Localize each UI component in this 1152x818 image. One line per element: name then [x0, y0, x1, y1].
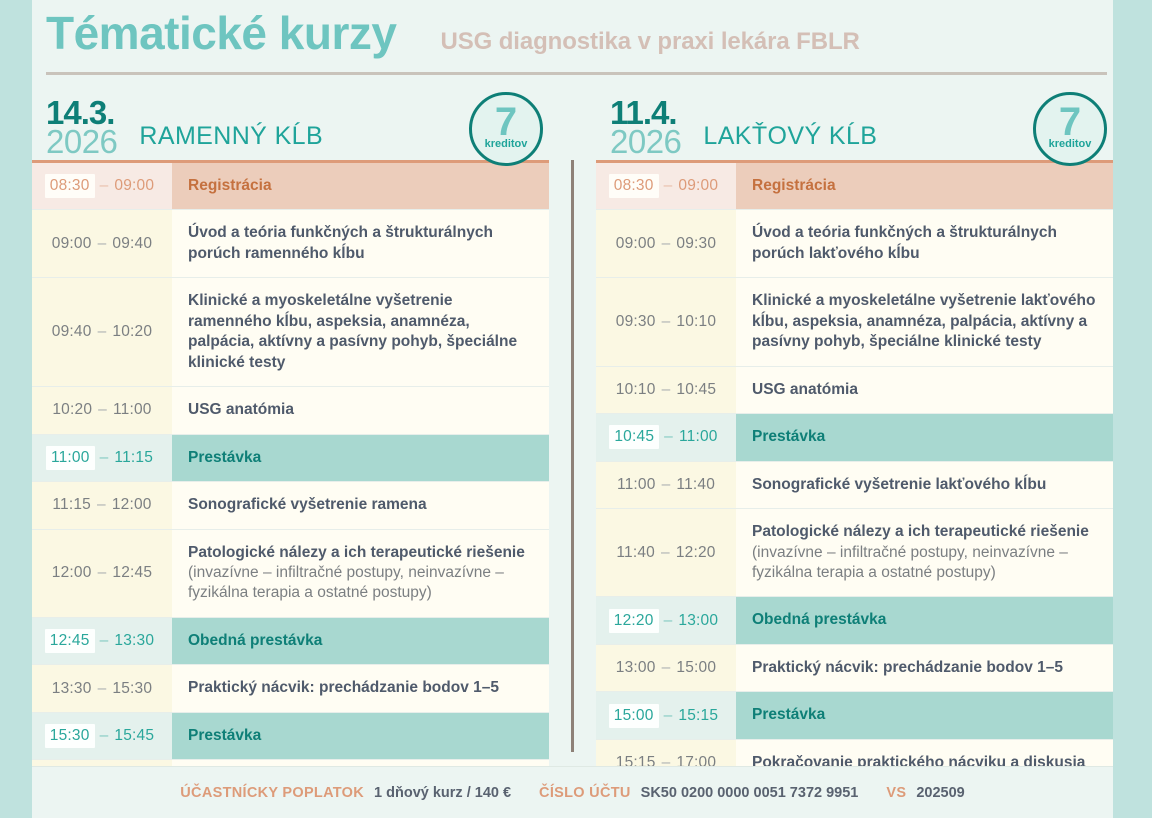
schedule-row: 15:00–15:15Prestávka — [596, 692, 1113, 739]
course-header-0: 14.3. 2026 RAMENNÝ KĹB 7 kreditov — [32, 86, 549, 160]
row-title: Prestávka — [188, 448, 535, 468]
row-time-dash: – — [661, 544, 670, 562]
schedule-row-body: Úvod a teória funkčných a štrukturálnych… — [172, 210, 549, 277]
row-end-time: 12:20 — [676, 544, 716, 562]
row-title: Patologické nálezy a ich terapeutické ri… — [188, 543, 535, 563]
schedule-row-time: 09:00–09:30 — [596, 210, 736, 277]
poster-canvas: Tématické kurzy USG diagnostika v praxi … — [32, 0, 1113, 818]
row-start-time: 08:30 — [45, 174, 95, 198]
fee-value: 1 dňový kurz / 140 € — [374, 785, 511, 801]
row-title: Klinické a myoskeletálne vyšetrenie rame… — [188, 291, 535, 373]
row-time-dash: – — [100, 177, 109, 195]
schedule-row-time: 09:00–09:40 — [32, 210, 172, 277]
schedule-row-body: Patologické nálezy a ich terapeutické ri… — [172, 530, 549, 617]
row-title: Prestávka — [752, 705, 1099, 725]
row-time-dash: – — [662, 381, 671, 399]
schedule-row-body: Praktický nácvik: prechádzanie bodov 1–5 — [736, 645, 1113, 691]
schedule-row-body: Klinické a myoskeletálne vyšetrenie rame… — [172, 278, 549, 386]
row-time-dash: – — [100, 449, 109, 467]
row-start-time: 09:00 — [616, 235, 656, 253]
row-time-dash: – — [98, 235, 107, 253]
schedule-table-0: 08:30–09:00Registrácia09:00–09:40Úvod a … — [32, 160, 549, 807]
schedule-row-time: 15:00–15:15 — [596, 692, 736, 738]
row-title: Registrácia — [188, 176, 535, 196]
schedule-row: 11:15–12:00Sonografické vyšetrenie ramen… — [32, 482, 549, 529]
row-end-time: 09:40 — [112, 235, 152, 253]
course-column-0: 14.3. 2026 RAMENNÝ KĹB 7 kreditov 08:30–… — [32, 86, 549, 766]
schedule-row: 15:30–15:45Prestávka — [32, 713, 549, 760]
row-title: Obedná prestávka — [752, 610, 1099, 630]
row-end-time: 12:00 — [112, 496, 152, 514]
schedule-row-time: 13:30–15:30 — [32, 665, 172, 711]
schedule-row-time: 11:15–12:00 — [32, 482, 172, 528]
row-start-time: 10:10 — [616, 381, 656, 399]
schedule-row-time: 15:30–15:45 — [32, 713, 172, 759]
row-end-time: 13:30 — [114, 632, 154, 650]
schedule-row-time: 11:40–12:20 — [596, 509, 736, 596]
schedule-row: 11:40–12:20Patologické nálezy a ich tera… — [596, 509, 1113, 597]
row-title: Registrácia — [752, 176, 1099, 196]
row-start-time: 15:00 — [609, 704, 659, 728]
schedule-row-time: 08:30–09:00 — [596, 163, 736, 209]
schedule-row-time: 12:20–13:00 — [596, 597, 736, 643]
page-title: Tématické kurzy — [46, 10, 396, 56]
row-start-time: 12:20 — [609, 609, 659, 633]
credits-label: kreditov — [485, 139, 528, 150]
schedule-row: 13:00–15:00Praktický nácvik: prechádzani… — [596, 645, 1113, 692]
schedule-row-body: Prestávka — [172, 713, 549, 759]
row-end-time: 11:00 — [113, 401, 152, 419]
row-time-dash: – — [662, 476, 671, 494]
row-title: Sonografické vyšetrenie ramena — [188, 495, 535, 515]
schedule-row-body: Sonografické vyšetrenie ramena — [172, 482, 549, 528]
course-date-year: 2026 — [610, 128, 681, 156]
row-start-time: 08:30 — [609, 174, 659, 198]
row-time-dash: – — [98, 680, 107, 698]
row-start-time: 10:20 — [52, 401, 92, 419]
poster-page: Tématické kurzy USG diagnostika v praxi … — [0, 0, 1152, 818]
schedule-row-body: Praktický nácvik: prechádzanie bodov 1–5 — [172, 665, 549, 711]
row-end-time: 15:45 — [114, 727, 154, 745]
poster-footer: ÚČASTNÍCKY POPLATOK 1 dňový kurz / 140 €… — [32, 766, 1113, 818]
schedule-row: 10:45–11:00Prestávka — [596, 414, 1113, 461]
row-title: Úvod a teória funkčných a štrukturálnych… — [752, 223, 1099, 264]
schedule-row-body: Sonografické vyšetrenie lakťového kĺbu — [736, 462, 1113, 508]
row-title: Klinické a myoskeletálne vyšetrenie lakť… — [752, 291, 1099, 352]
row-title: Praktický nácvik: prechádzanie bodov 1–5 — [188, 678, 535, 698]
schedule-row-time: 08:30–09:00 — [32, 163, 172, 209]
schedule-row: 08:30–09:00Registrácia — [596, 163, 1113, 210]
row-end-time: 10:10 — [676, 313, 716, 331]
row-start-time: 13:00 — [616, 659, 656, 677]
credits-badge: 7 kreditov — [1033, 92, 1107, 166]
credits-badge: 7 kreditov — [469, 92, 543, 166]
row-end-time: 09:00 — [114, 177, 154, 195]
vs-value: 202509 — [916, 785, 964, 801]
schedule-row-time: 10:10–10:45 — [596, 367, 736, 413]
schedule-row-body: Obedná prestávka — [736, 597, 1113, 643]
row-time-dash: – — [97, 496, 106, 514]
schedule-row: 12:20–13:00Obedná prestávka — [596, 597, 1113, 644]
course-date-year: 2026 — [46, 128, 117, 156]
row-end-time: 09:30 — [676, 235, 716, 253]
row-note: (invazívne – infiltračné postupy, neinva… — [752, 543, 1099, 584]
row-time-dash: – — [664, 177, 673, 195]
row-time-dash: – — [100, 727, 109, 745]
schedule-row: 11:00–11:40Sonografické vyšetrenie lakťo… — [596, 462, 1113, 509]
column-divider — [571, 160, 574, 752]
schedule-row-time: 10:20–11:00 — [32, 387, 172, 433]
schedule-row: 13:30–15:30Praktický nácvik: prechádzani… — [32, 665, 549, 712]
row-start-time: 09:00 — [52, 235, 92, 253]
schedule-row-time: 09:40–10:20 — [32, 278, 172, 386]
schedule-row: 10:20–11:00USG anatómia — [32, 387, 549, 434]
schedule-row-time: 12:00–12:45 — [32, 530, 172, 617]
row-start-time: 12:00 — [52, 564, 92, 582]
schedule-row-time: 10:45–11:00 — [596, 414, 736, 460]
schedule-row-body: Prestávka — [736, 414, 1113, 460]
schedule-row-body: USG anatómia — [172, 387, 549, 433]
row-end-time: 12:45 — [112, 564, 152, 582]
row-title: Prestávka — [752, 427, 1099, 447]
row-title: Patologické nálezy a ich terapeutické ri… — [752, 522, 1099, 542]
schedule-row: 08:30–09:00Registrácia — [32, 163, 549, 210]
row-time-dash: – — [664, 428, 673, 446]
schedule-row-time: 12:45–13:30 — [32, 618, 172, 664]
schedule-row-body: Obedná prestávka — [172, 618, 549, 664]
credits-label: kreditov — [1049, 139, 1092, 150]
schedule-row-time: 13:00–15:00 — [596, 645, 736, 691]
row-start-time: 10:45 — [609, 425, 659, 449]
row-end-time: 15:30 — [112, 680, 152, 698]
row-end-time: 15:15 — [678, 707, 718, 725]
schedule-row-body: USG anatómia — [736, 367, 1113, 413]
row-start-time: 15:30 — [45, 724, 95, 748]
row-title: USG anatómia — [752, 380, 1099, 400]
row-end-time: 11:15 — [114, 449, 153, 467]
row-start-time: 11:40 — [616, 544, 655, 562]
account-value: SK50 0200 0000 0051 7372 9951 — [641, 785, 859, 801]
vs-label: VS — [886, 785, 906, 801]
row-end-time: 15:00 — [676, 659, 716, 677]
header-divider — [46, 72, 1107, 75]
row-start-time: 12:45 — [45, 629, 95, 653]
schedule-table-1: 08:30–09:00Registrácia09:00–09:30Úvod a … — [596, 160, 1113, 786]
course-columns: 14.3. 2026 RAMENNÝ KĹB 7 kreditov 08:30–… — [32, 86, 1113, 766]
schedule-row: 09:30–10:10Klinické a myoskeletálne vyše… — [596, 278, 1113, 366]
row-time-dash: – — [98, 401, 107, 419]
row-time-dash: – — [664, 707, 673, 725]
course-name: LAKŤOVÝ KĹB — [703, 122, 877, 160]
schedule-row: 09:00–09:40Úvod a teória funkčných a štr… — [32, 210, 549, 278]
fee-label: ÚČASTNÍCKY POPLATOK — [180, 785, 364, 801]
course-date-0: 14.3. 2026 — [46, 99, 117, 160]
row-title: Sonografické vyšetrenie lakťového kĺbu — [752, 475, 1099, 495]
schedule-row-time: 09:30–10:10 — [596, 278, 736, 365]
row-time-dash: – — [662, 235, 671, 253]
schedule-row-body: Klinické a myoskeletálne vyšetrenie lakť… — [736, 278, 1113, 365]
poster-header: Tématické kurzy USG diagnostika v praxi … — [32, 0, 1113, 86]
schedule-row: 11:00–11:15Prestávka — [32, 435, 549, 482]
schedule-row-time: 11:00–11:40 — [596, 462, 736, 508]
row-title: Praktický nácvik: prechádzanie bodov 1–5 — [752, 658, 1099, 678]
row-title: USG anatómia — [188, 400, 535, 420]
schedule-row-body: Prestávka — [736, 692, 1113, 738]
row-title: Prestávka — [188, 726, 535, 746]
row-time-dash: – — [662, 313, 671, 331]
schedule-row: 12:00–12:45Patologické nálezy a ich tera… — [32, 530, 549, 618]
schedule-row: 10:10–10:45USG anatómia — [596, 367, 1113, 414]
schedule-row-body: Patologické nálezy a ich terapeutické ri… — [736, 509, 1113, 596]
row-start-time: 09:30 — [616, 313, 656, 331]
course-header-1: 11.4. 2026 LAKŤOVÝ KĹB 7 kreditov — [596, 86, 1113, 160]
row-end-time: 10:45 — [676, 381, 716, 399]
row-start-time: 11:15 — [52, 496, 91, 514]
row-time-dash: – — [662, 659, 671, 677]
course-name: RAMENNÝ KĹB — [139, 122, 323, 160]
row-title: Obedná prestávka — [188, 631, 535, 651]
schedule-row-time: 11:00–11:15 — [32, 435, 172, 481]
row-end-time: 11:00 — [679, 428, 718, 446]
schedule-row-body: Úvod a teória funkčných a štrukturálnych… — [736, 210, 1113, 277]
row-time-dash: – — [98, 564, 107, 582]
row-note: (invazívne – infiltračné postupy, neinva… — [188, 563, 535, 604]
row-end-time: 13:00 — [678, 612, 718, 630]
row-start-time: 11:00 — [617, 476, 656, 494]
account-label: ČÍSLO ÚČTU — [539, 785, 631, 801]
schedule-row: 09:40–10:20Klinické a myoskeletálne vyše… — [32, 278, 549, 387]
course-date-1: 11.4. 2026 — [610, 99, 681, 160]
row-end-time: 10:20 — [112, 323, 152, 341]
row-time-dash: – — [100, 632, 109, 650]
course-column-1: 11.4. 2026 LAKŤOVÝ KĹB 7 kreditov 08:30–… — [596, 86, 1113, 766]
credits-number: 7 — [1059, 106, 1081, 139]
row-time-dash: – — [98, 323, 107, 341]
row-time-dash: – — [664, 612, 673, 630]
row-start-time: 09:40 — [52, 323, 92, 341]
schedule-row-body: Prestávka — [172, 435, 549, 481]
row-title: Úvod a teória funkčných a štrukturálnych… — [188, 223, 535, 264]
page-subtitle: USG diagnostika v praxi lekára FBLR — [440, 30, 859, 54]
schedule-row: 12:45–13:30Obedná prestávka — [32, 618, 549, 665]
row-end-time: 11:40 — [676, 476, 715, 494]
row-start-time: 11:00 — [46, 446, 95, 470]
schedule-row: 09:00–09:30Úvod a teória funkčných a štr… — [596, 210, 1113, 278]
row-end-time: 09:00 — [678, 177, 718, 195]
credits-number: 7 — [495, 106, 517, 139]
schedule-row-body: Registrácia — [172, 163, 549, 209]
schedule-row-body: Registrácia — [736, 163, 1113, 209]
row-start-time: 13:30 — [52, 680, 92, 698]
